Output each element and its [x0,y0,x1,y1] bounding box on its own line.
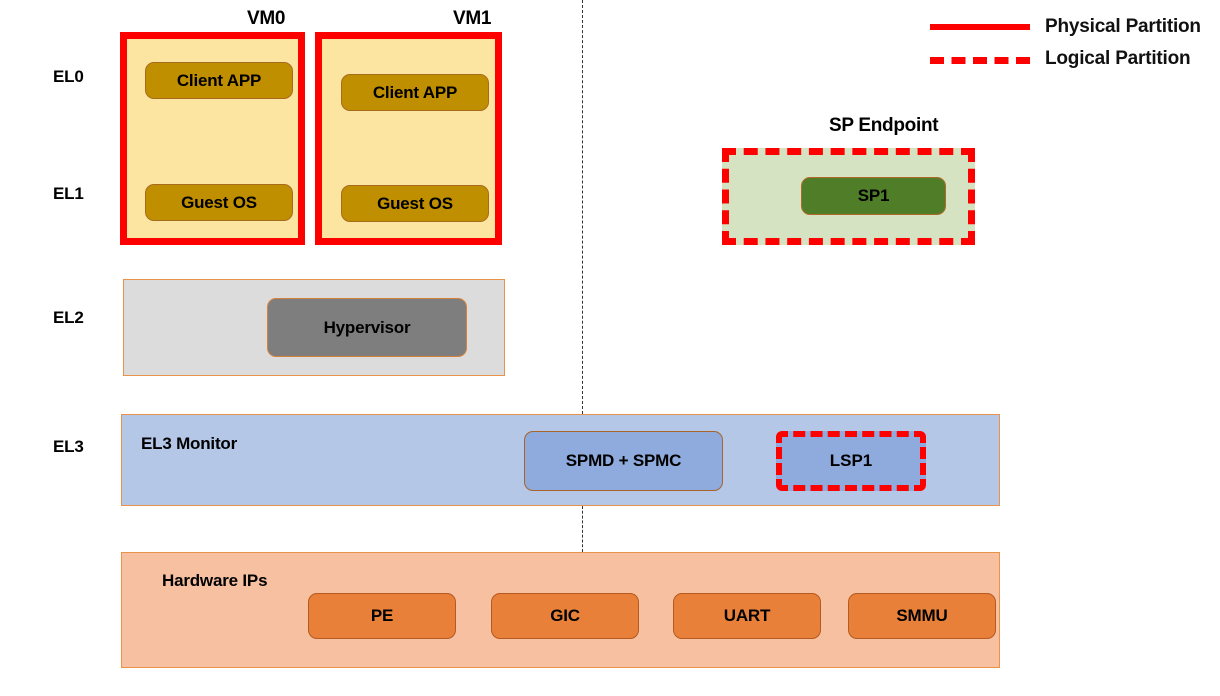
dashed-line-icon [930,57,1030,64]
vm0-guest-os-block[interactable]: Guest OS [145,184,293,221]
hardware-ip-pe-label: PE [371,606,393,626]
spmd-spmc-label: SPMD + SPMC [566,451,681,471]
sp-endpoint-title: SP Endpoint [829,115,938,137]
hardware-ip-gic-label: GIC [550,606,580,626]
vm1-client-app-block[interactable]: Client APP [341,74,489,111]
sp-endpoint-container[interactable]: SP1 [722,148,975,245]
spmd-spmc-block[interactable]: SPMD + SPMC [524,431,723,491]
lsp1-block[interactable]: LSP1 [776,431,926,491]
level-label-el3: EL3 [53,437,84,457]
hardware-ip-gic-block[interactable]: GIC [491,593,639,639]
vm1-container[interactable]: Client APP Guest OS [315,32,502,245]
solid-line-icon [930,24,1030,30]
legend-label-logical-partition: Logical Partition [1045,48,1190,70]
architecture-diagram: Physical Partition Logical Partition EL0… [0,0,1220,696]
legend: Physical Partition Logical Partition [930,8,1215,72]
normal-secure-world-divider-lower [582,506,583,552]
hardware-ips-label: Hardware IPs [162,571,267,591]
normal-secure-world-divider [582,0,583,414]
legend-label-physical-partition: Physical Partition [1045,16,1201,38]
vm0-client-app-block[interactable]: Client APP [145,62,293,99]
hypervisor-label: Hypervisor [324,318,411,338]
lsp1-label: LSP1 [830,451,873,471]
hardware-ip-smmu-label: SMMU [896,606,947,626]
el2-band: Hypervisor [123,279,505,376]
vm1-title: VM1 [453,8,491,30]
vm0-client-app-label: Client APP [177,71,261,91]
vm0-container[interactable]: Client APP Guest OS [120,32,305,245]
vm0-guest-os-label: Guest OS [181,193,257,213]
vm1-client-app-label: Client APP [373,83,457,103]
hardware-ip-smmu-block[interactable]: SMMU [848,593,996,639]
sp1-block[interactable]: SP1 [801,177,946,215]
vm0-title: VM0 [247,8,285,30]
hypervisor-block[interactable]: Hypervisor [267,298,467,357]
hardware-ips-band: Hardware IPs PE GIC UART SMMU [121,552,1000,668]
el3-monitor-label: EL3 Monitor [141,434,237,454]
el3-band: EL3 Monitor SPMD + SPMC LSP1 [121,414,1000,506]
hardware-ip-uart-block[interactable]: UART [673,593,821,639]
hardware-ip-pe-block[interactable]: PE [308,593,456,639]
vm1-guest-os-block[interactable]: Guest OS [341,185,489,222]
level-label-el0: EL0 [53,67,84,87]
hardware-ip-uart-label: UART [724,606,770,626]
vm1-guest-os-label: Guest OS [377,194,453,214]
level-label-el2: EL2 [53,308,84,328]
level-label-el1: EL1 [53,184,84,204]
sp1-label: SP1 [858,186,890,206]
